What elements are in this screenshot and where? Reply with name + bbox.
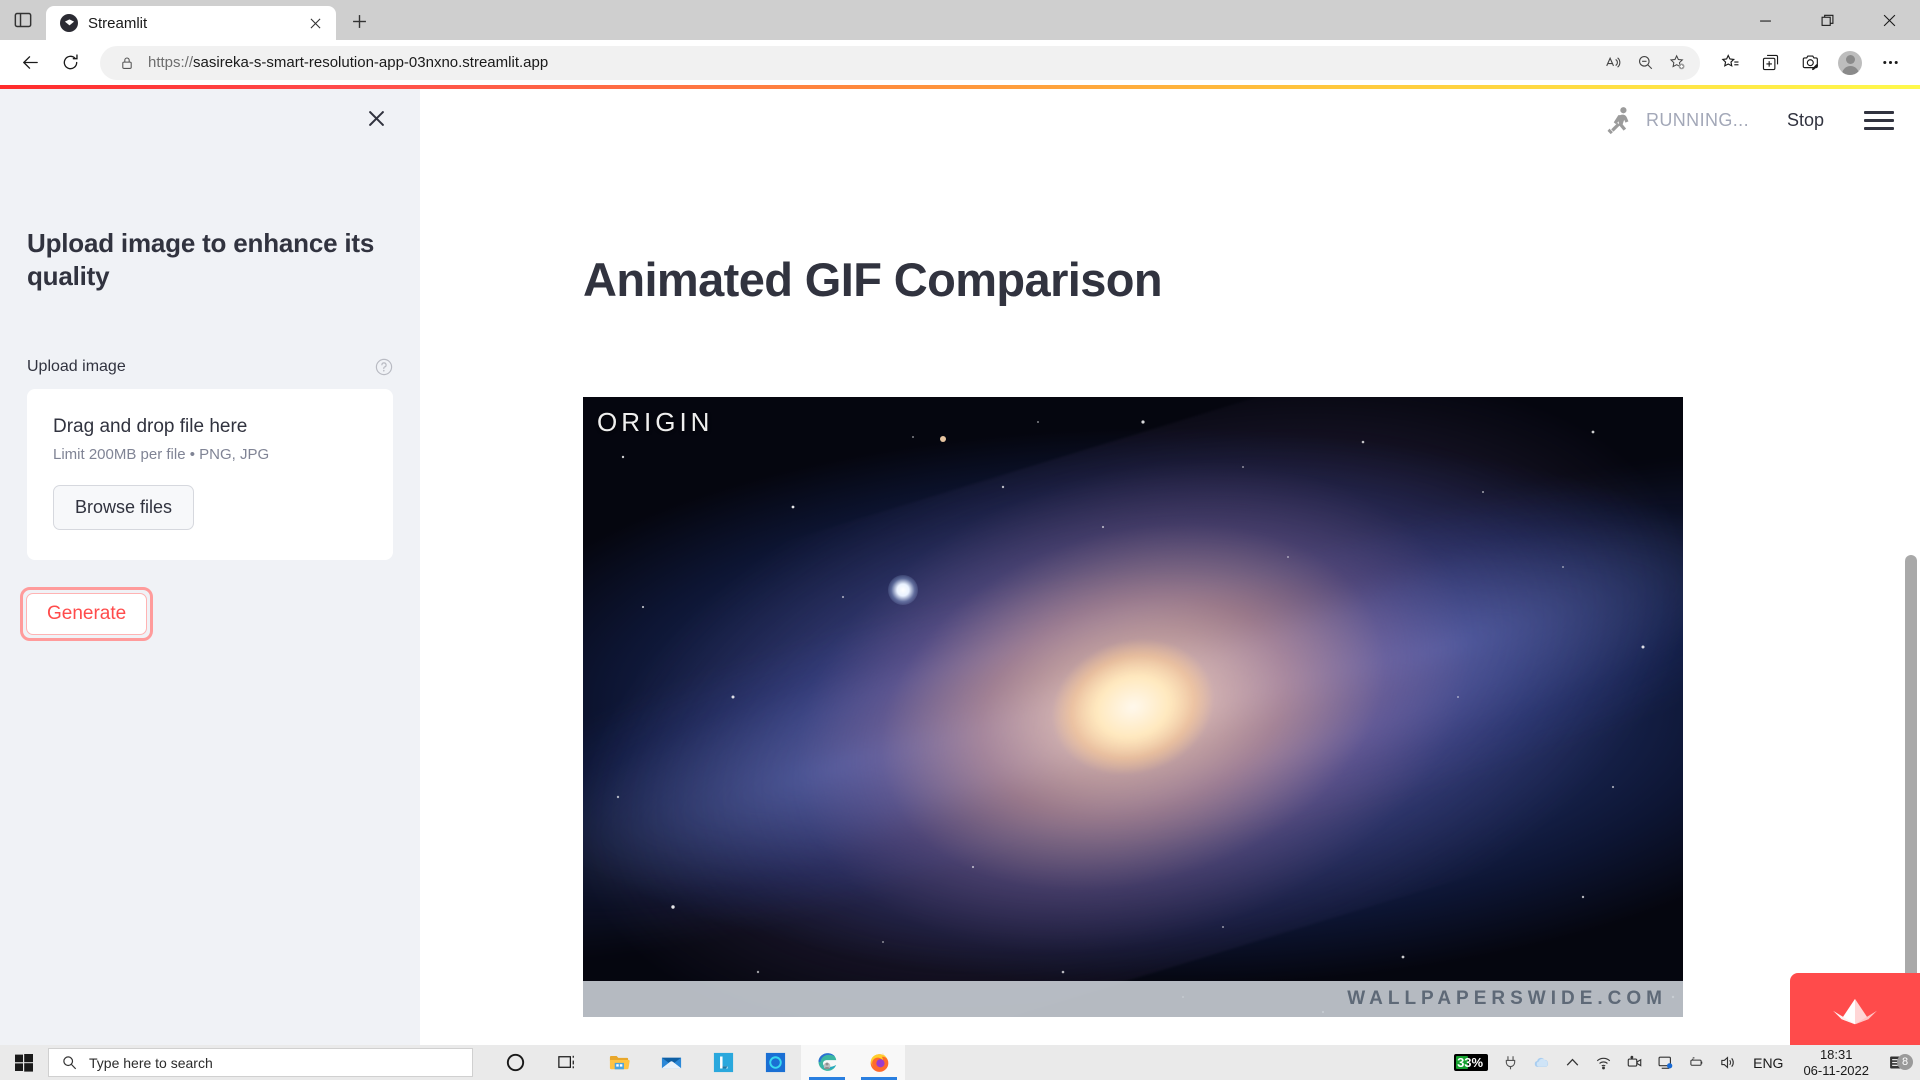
camera-icon[interactable] <box>1619 1045 1650 1080</box>
read-aloud-icon[interactable] <box>1598 49 1628 77</box>
dropzone-limits: Limit 200MB per file • PNG, JPG <box>53 446 367 463</box>
gif-comparison-image: ORIGIN WALLPAPERSWIDE.COM <box>583 397 1683 1017</box>
tab-close-icon[interactable] <box>304 12 326 34</box>
dropzone-title: Drag and drop file here <box>53 416 367 438</box>
browser-toolbar: https://sasireka-s-smart-resolution-app-… <box>0 40 1920 85</box>
origin-overlay-label: ORIGIN <box>597 407 713 438</box>
app-sidebar: Upload image to enhance its quality Uplo… <box>0 85 420 1045</box>
address-bar-url: https://sasireka-s-smart-resolution-app-… <box>148 54 1598 71</box>
browser-window: Streamlit <box>0 0 1920 1045</box>
sidebar-close-icon[interactable] <box>359 101 393 135</box>
starfield <box>583 397 1683 1017</box>
windows-start-icon[interactable] <box>0 1045 48 1080</box>
battery-percent-text: 33% <box>1457 1055 1483 1070</box>
browser-titlebar: Streamlit <box>0 0 1920 40</box>
new-tab-button[interactable] <box>342 4 376 38</box>
onedrive-cloud-icon[interactable] <box>1526 1045 1557 1080</box>
collections-button[interactable] <box>1752 46 1788 80</box>
clock-time: 18:31 <box>1803 1047 1869 1063</box>
upload-field-label-row: Upload image <box>27 358 393 376</box>
windows-taskbar: Type here to search <box>0 1045 1920 1080</box>
watermark-bar: WALLPAPERSWIDE.COM <box>583 981 1683 1017</box>
task-view-icon[interactable] <box>541 1045 593 1080</box>
restore-button[interactable] <box>1796 0 1858 40</box>
search-icon <box>62 1055 77 1070</box>
minimize-button[interactable] <box>1734 0 1796 40</box>
upload-label: Upload image <box>27 358 126 376</box>
system-tray: 33% <box>1447 1045 1920 1080</box>
generate-button[interactable]: Generate <box>26 593 147 635</box>
battery-percent-indicator[interactable]: 33% <box>1447 1045 1495 1080</box>
network-icon[interactable] <box>1650 1045 1681 1080</box>
tab-actions-icon[interactable] <box>0 0 46 40</box>
lock-icon <box>116 52 138 74</box>
wifi-icon[interactable] <box>1588 1045 1619 1080</box>
streamlit-app: RUNNING... Stop Animated GIF Comparison <box>0 85 1920 1045</box>
generate-button-highlight: Generate <box>20 587 153 641</box>
streamlit-crown-logo <box>1828 989 1882 1029</box>
add-favorite-icon[interactable] <box>1662 49 1692 77</box>
app-scrollbar[interactable] <box>1905 555 1917 1035</box>
plug-icon[interactable] <box>1495 1045 1526 1080</box>
alexa-icon[interactable] <box>749 1045 801 1080</box>
notifications-icon[interactable]: 8 <box>1879 1054 1914 1071</box>
edge-icon[interactable] <box>801 1045 853 1080</box>
cortana-icon[interactable] <box>489 1045 541 1080</box>
omnibox-actions <box>1598 49 1692 77</box>
taskbar-search-input[interactable]: Type here to search <box>48 1048 473 1077</box>
volume-icon[interactable] <box>1712 1045 1743 1080</box>
clock-date: 06-11-2022 <box>1803 1063 1869 1079</box>
page-title: Animated GIF Comparison <box>583 252 1162 307</box>
streamlit-favicon-icon <box>60 14 78 32</box>
streamlit-badge[interactable] <box>1790 973 1920 1045</box>
settings-more-button[interactable] <box>1872 46 1908 80</box>
zoom-out-icon[interactable] <box>1630 49 1660 77</box>
loading-progress-bar <box>0 85 1920 89</box>
notification-count-badge: 8 <box>1897 1054 1913 1070</box>
sidebar-heading: Upload image to enhance its quality <box>27 227 387 294</box>
hamburger-menu-icon[interactable] <box>1864 111 1894 130</box>
browser-tab[interactable]: Streamlit <box>46 6 336 40</box>
file-explorer-icon[interactable] <box>593 1045 645 1080</box>
stop-button[interactable]: Stop <box>1787 110 1824 131</box>
app-status-bar: RUNNING... Stop <box>420 85 1920 155</box>
firefox-icon[interactable] <box>853 1045 905 1080</box>
watermark-text: WALLPAPERSWIDE.COM <box>1347 988 1667 1010</box>
input-language[interactable]: ENG <box>1743 1055 1793 1071</box>
screenshot-button[interactable] <box>1792 46 1828 80</box>
taskbar-search-placeholder: Type here to search <box>89 1055 213 1071</box>
browse-files-button[interactable]: Browse files <box>53 485 194 530</box>
clock[interactable]: 18:31 06-11-2022 <box>1793 1047 1879 1079</box>
lenovo-icon[interactable] <box>697 1045 749 1080</box>
running-man-icon <box>1600 99 1642 141</box>
sidebar-content: Upload image to enhance its quality Uplo… <box>0 85 420 641</box>
window-controls <box>1734 0 1920 40</box>
profile-avatar[interactable] <box>1832 46 1868 80</box>
show-hidden-icons-chevron[interactable] <box>1557 1045 1588 1080</box>
url-scheme: https:// <box>148 54 193 71</box>
mail-icon[interactable] <box>645 1045 697 1080</box>
file-dropzone[interactable]: Drag and drop file here Limit 200MB per … <box>27 389 393 560</box>
close-button[interactable] <box>1858 0 1920 40</box>
address-bar[interactable]: https://sasireka-s-smart-resolution-app-… <box>100 46 1700 80</box>
battery-icon[interactable] <box>1681 1045 1712 1080</box>
running-status-text: RUNNING... <box>1646 110 1749 131</box>
app-main-area: RUNNING... Stop Animated GIF Comparison <box>420 85 1920 1045</box>
tab-title: Streamlit <box>88 15 294 32</box>
favorites-button[interactable] <box>1712 46 1748 80</box>
taskbar-apps <box>489 1045 905 1080</box>
back-button[interactable] <box>12 46 48 80</box>
help-circle-icon[interactable] <box>375 358 393 376</box>
refresh-button[interactable] <box>52 46 88 80</box>
url-host: sasireka-s-smart-resolution-app-03nxno.s… <box>193 54 548 71</box>
